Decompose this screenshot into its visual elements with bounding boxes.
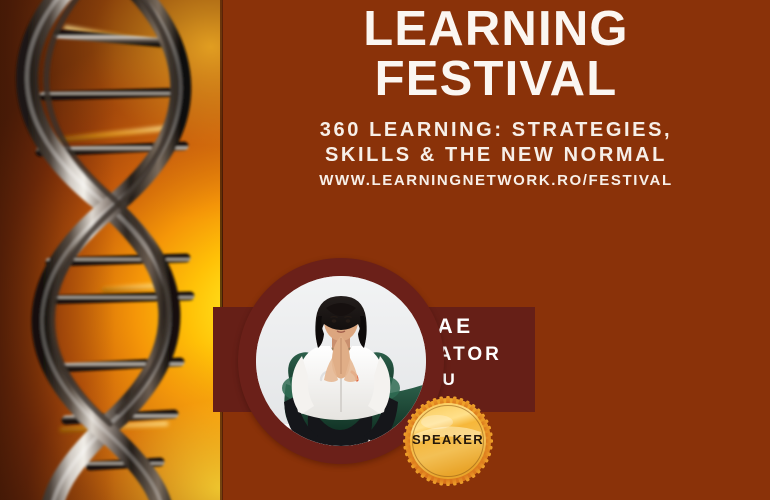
speaker-photo <box>256 276 426 446</box>
title-line-1: LEARNING <box>222 4 770 54</box>
subtitle-line-1: 360 LEARNING: STRATEGIES, <box>222 118 770 143</box>
learning-festival-poster: LEARNING FESTIVAL 360 LEARNING: STRATEGI… <box>0 0 770 500</box>
dna-double-helix-icon <box>0 0 222 500</box>
festival-url[interactable]: WWW.LEARNINGNETWORK.RO/FESTIVAL <box>222 172 770 190</box>
page-title: LEARNING FESTIVAL <box>222 4 770 104</box>
subtitle: 360 LEARNING: STRATEGIES, SKILLS & THE N… <box>222 118 770 190</box>
title-line-2: FESTIVAL <box>222 54 770 104</box>
badge-label: SPEAKER <box>403 432 493 447</box>
speaker-portrait-illustration <box>256 276 426 446</box>
speaker-badge: SPEAKER <box>403 396 493 486</box>
dna-artwork-panel <box>0 0 222 500</box>
subtitle-line-2: SKILLS & THE NEW NORMAL <box>222 143 770 168</box>
